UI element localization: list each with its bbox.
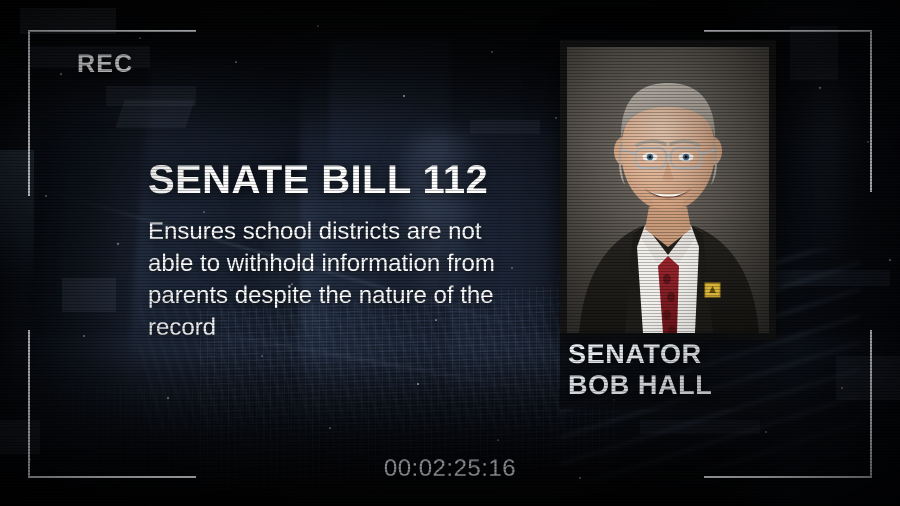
glitch-block [62,278,116,312]
speaker-name: BOB HALL [568,370,784,401]
glitch-block [0,420,40,454]
broadcast-overlay-frame: SENATOR BOB HALL SENATE BILL 112 Ensures… [0,0,900,506]
glitch-block [640,420,760,434]
speaker-name-plate: SENATOR BOB HALL [560,333,792,409]
bill-description: Ensures school districts are not able to… [148,216,533,344]
portrait-photo-bob-hall [567,47,769,333]
timecode-display: 00:02:25:16 [0,455,900,483]
glitch-block [836,356,900,400]
speaker-title: SENATOR [568,339,784,370]
speaker-portrait [560,40,776,340]
glitch-block [115,100,194,128]
viewfinder-bracket-top-left [28,30,196,32]
lower-third-text-block: SENATE BILL 112 Ensures school districts… [148,160,548,344]
glitch-block [790,26,838,80]
glitch-block [470,120,540,134]
viewfinder-bracket-top-left [28,30,30,196]
viewfinder-bracket-top-right [870,30,872,192]
bill-title: SENATE BILL 112 [148,160,548,200]
viewfinder-bracket-top-right [704,30,872,32]
rec-indicator-label: REC [77,50,133,79]
